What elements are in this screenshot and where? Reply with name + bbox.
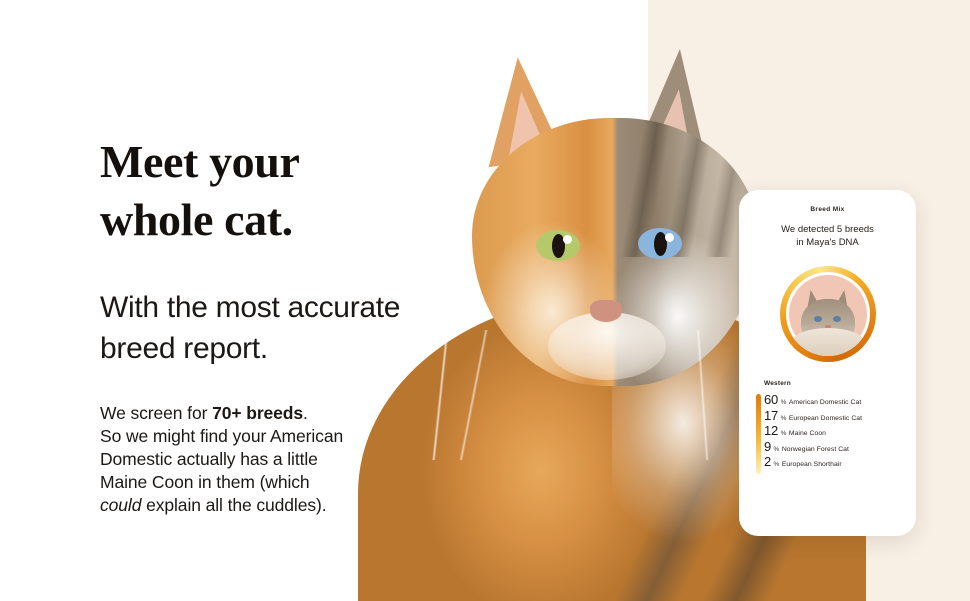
- breed-list: 60 % American Domestic Cat 17 % European…: [751, 392, 904, 470]
- percent-sign-icon: %: [781, 399, 787, 406]
- list-item[interactable]: 17 % European Domestic Cat: [764, 408, 904, 424]
- region-label-western: Western: [764, 380, 904, 387]
- percent-sign-icon: %: [774, 461, 780, 468]
- breed-name: American Domestic Cat: [789, 399, 861, 406]
- body-breeds-count: 70+ breeds: [212, 403, 303, 423]
- breed-name: Maine Coon: [789, 430, 826, 437]
- body-line-1-pre: We screen for: [100, 403, 212, 423]
- list-item[interactable]: 12 % Maine Coon: [764, 423, 904, 439]
- breed-percent: 17: [764, 408, 778, 423]
- card-kicker-label: Breed Mix: [751, 206, 904, 213]
- percent-sign-icon: %: [774, 446, 780, 453]
- percent-sign-icon: %: [781, 430, 787, 437]
- promo-banner: Meet your whole cat. With the most accur…: [0, 0, 970, 601]
- cat-nose: [590, 300, 622, 322]
- cat-eye-right-blue: [638, 228, 682, 259]
- breed-name: European Domestic Cat: [789, 415, 862, 422]
- percent-sign-icon: %: [781, 415, 787, 422]
- breed-gradient-bar: [756, 394, 761, 474]
- card-title-line-2: in Maya's DNA: [751, 236, 904, 249]
- list-item[interactable]: 9 % Norwegian Forest Cat: [764, 439, 904, 455]
- breed-percent: 60: [764, 392, 778, 407]
- body-line-5-post: explain all the cuddles).: [141, 495, 326, 515]
- avatar-ring: [780, 266, 876, 362]
- body-line-1-post: .: [303, 403, 308, 423]
- body-emphasis-could: could: [100, 495, 141, 515]
- breed-name: European Shorthair: [782, 461, 842, 468]
- card-title-line-1: We detected 5 breeds: [751, 223, 904, 236]
- breed-mix-card[interactable]: Breed Mix We detected 5 breeds in Maya's…: [739, 190, 916, 536]
- avatar: [786, 272, 870, 356]
- breed-percent: 12: [764, 423, 778, 438]
- avatar-eye-left: [814, 316, 822, 322]
- breed-percent: 2: [764, 454, 771, 469]
- cat-eye-left-green: [536, 230, 580, 261]
- list-item[interactable]: 60 % American Domestic Cat: [764, 392, 904, 408]
- breed-percent: 9: [764, 439, 771, 454]
- avatar-chest: [792, 328, 864, 356]
- breed-name: Norwegian Forest Cat: [782, 446, 849, 453]
- list-item[interactable]: 2 % European Shorthair: [764, 454, 904, 470]
- avatar-eye-right: [833, 316, 841, 322]
- card-title: We detected 5 breeds in Maya's DNA: [751, 223, 904, 249]
